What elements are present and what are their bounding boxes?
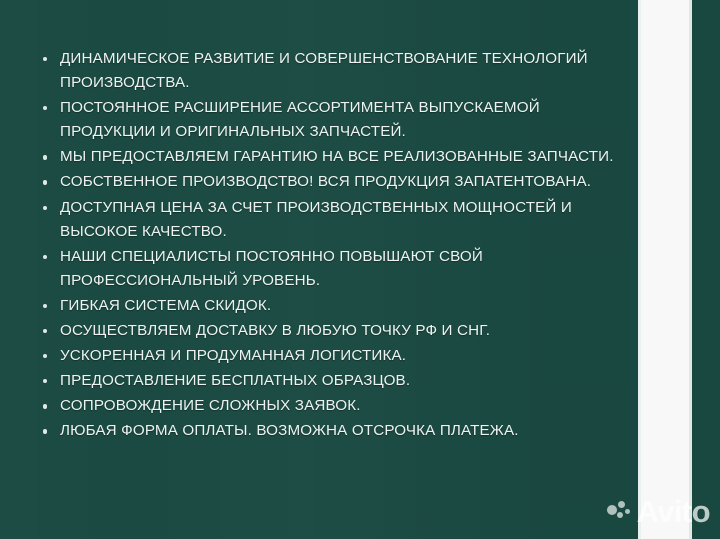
bullet-item-text: ПРЕДОСТАВЛЕНИЕ БЕСПЛАТНЫХ ОБРАЗЦОВ. [60, 372, 410, 389]
bullet-item: ДИНАМИЧЕСКОЕ РАЗВИТИЕ И СОВЕРШЕНСТВОВАНИ… [38, 47, 628, 95]
bullet-dot-icon [43, 57, 47, 61]
advantages-bullet-list: ДИНАМИЧЕСКОЕ РАЗВИТИЕ И СОВЕРШЕНСТВОВАНИ… [38, 47, 628, 445]
bullet-item-text: ПОСТОЯННОЕ РАСШИРЕНИЕ АССОРТИМЕНТА ВЫПУС… [60, 99, 540, 140]
bullet-item-text: СОПРОВОЖДЕНИЕ СЛОЖНЫХ ЗАЯВОК. [60, 397, 361, 414]
bullet-dot-icon [43, 106, 47, 110]
bullet-dot-icon [43, 379, 47, 383]
bullet-dot-icon [43, 206, 47, 210]
bullet-item-text: МЫ ПРЕДОСТАВЛЯЕМ ГАРАНТИЮ НА ВСЕ РЕАЛИЗО… [60, 148, 614, 165]
bullet-item-text: ЛЮБАЯ ФОРМА ОПЛАТЫ. ВОЗМОЖНА ОТСРОЧКА ПЛ… [60, 422, 519, 439]
bullet-dot-icon [43, 354, 47, 358]
bullet-item-text: ДОСТУПНАЯ ЦЕНА ЗА СЧЕТ ПРОИЗВОДСТВЕННЫХ … [60, 199, 572, 240]
bullet-item: НАШИ СПЕЦИАЛИСТЫ ПОСТОЯННО ПОВЫШАЮТ СВОЙ… [38, 245, 628, 293]
bullet-item: УСКОРЕННАЯ И ПРОДУМАННАЯ ЛОГИСТИКА. [38, 344, 628, 368]
bullet-item-text: ОСУЩЕСТВЛЯЕМ ДОСТАВКУ В ЛЮБУЮ ТОЧКУ РФ И… [60, 322, 490, 339]
page-edge-strip [638, 0, 692, 539]
bullet-item: ПРЕДОСТАВЛЕНИЕ БЕСПЛАТНЫХ ОБРАЗЦОВ. [38, 369, 628, 393]
bullet-item: СОПРОВОЖДЕНИЕ СЛОЖНЫХ ЗАЯВОК. [38, 394, 628, 418]
bullet-item: ОСУЩЕСТВЛЯЕМ ДОСТАВКУ В ЛЮБУЮ ТОЧКУ РФ И… [38, 319, 628, 343]
bullet-item-text: ДИНАМИЧЕСКОЕ РАЗВИТИЕ И СОВЕРШЕНСТВОВАНИ… [60, 50, 588, 91]
bullet-item: ПОСТОЯННОЕ РАСШИРЕНИЕ АССОРТИМЕНТА ВЫПУС… [38, 96, 628, 144]
bullet-dot-icon [43, 304, 47, 308]
bullet-item: МЫ ПРЕДОСТАВЛЯЕМ ГАРАНТИЮ НА ВСЕ РЕАЛИЗО… [38, 145, 628, 169]
bullet-item: ГИБКАЯ СИСТЕМА СКИДОК. [38, 294, 628, 318]
bullet-item-text: НАШИ СПЕЦИАЛИСТЫ ПОСТОЯННО ПОВЫШАЮТ СВОЙ… [60, 248, 483, 289]
bullet-item: ДОСТУПНАЯ ЦЕНА ЗА СЧЕТ ПРОИЗВОДСТВЕННЫХ … [38, 196, 628, 244]
bullet-item-text: ГИБКАЯ СИСТЕМА СКИДОК. [60, 297, 271, 314]
bullet-item: СОБСТВЕННОЕ ПРОИЗВОДСТВО! ВСЯ ПРОДУКЦИЯ … [38, 170, 628, 194]
bullet-dot-icon [43, 429, 47, 433]
bullet-item-text: СОБСТВЕННОЕ ПРОИЗВОДСТВО! ВСЯ ПРОДУКЦИЯ … [60, 173, 591, 190]
bullet-dot-icon [43, 155, 47, 159]
bullet-item-text: УСКОРЕННАЯ И ПРОДУМАННАЯ ЛОГИСТИКА. [60, 347, 406, 364]
slide-canvas: ДИНАМИЧЕСКОЕ РАЗВИТИЕ И СОВЕРШЕНСТВОВАНИ… [0, 0, 720, 539]
bullet-dot-icon [43, 329, 47, 333]
bullet-dot-icon [43, 180, 47, 184]
bullet-item: ЛЮБАЯ ФОРМА ОПЛАТЫ. ВОЗМОЖНА ОТСРОЧКА ПЛ… [38, 419, 628, 443]
bullet-dot-icon [43, 404, 47, 408]
bullet-dot-icon [43, 255, 47, 259]
avito-dots-icon [607, 501, 633, 523]
